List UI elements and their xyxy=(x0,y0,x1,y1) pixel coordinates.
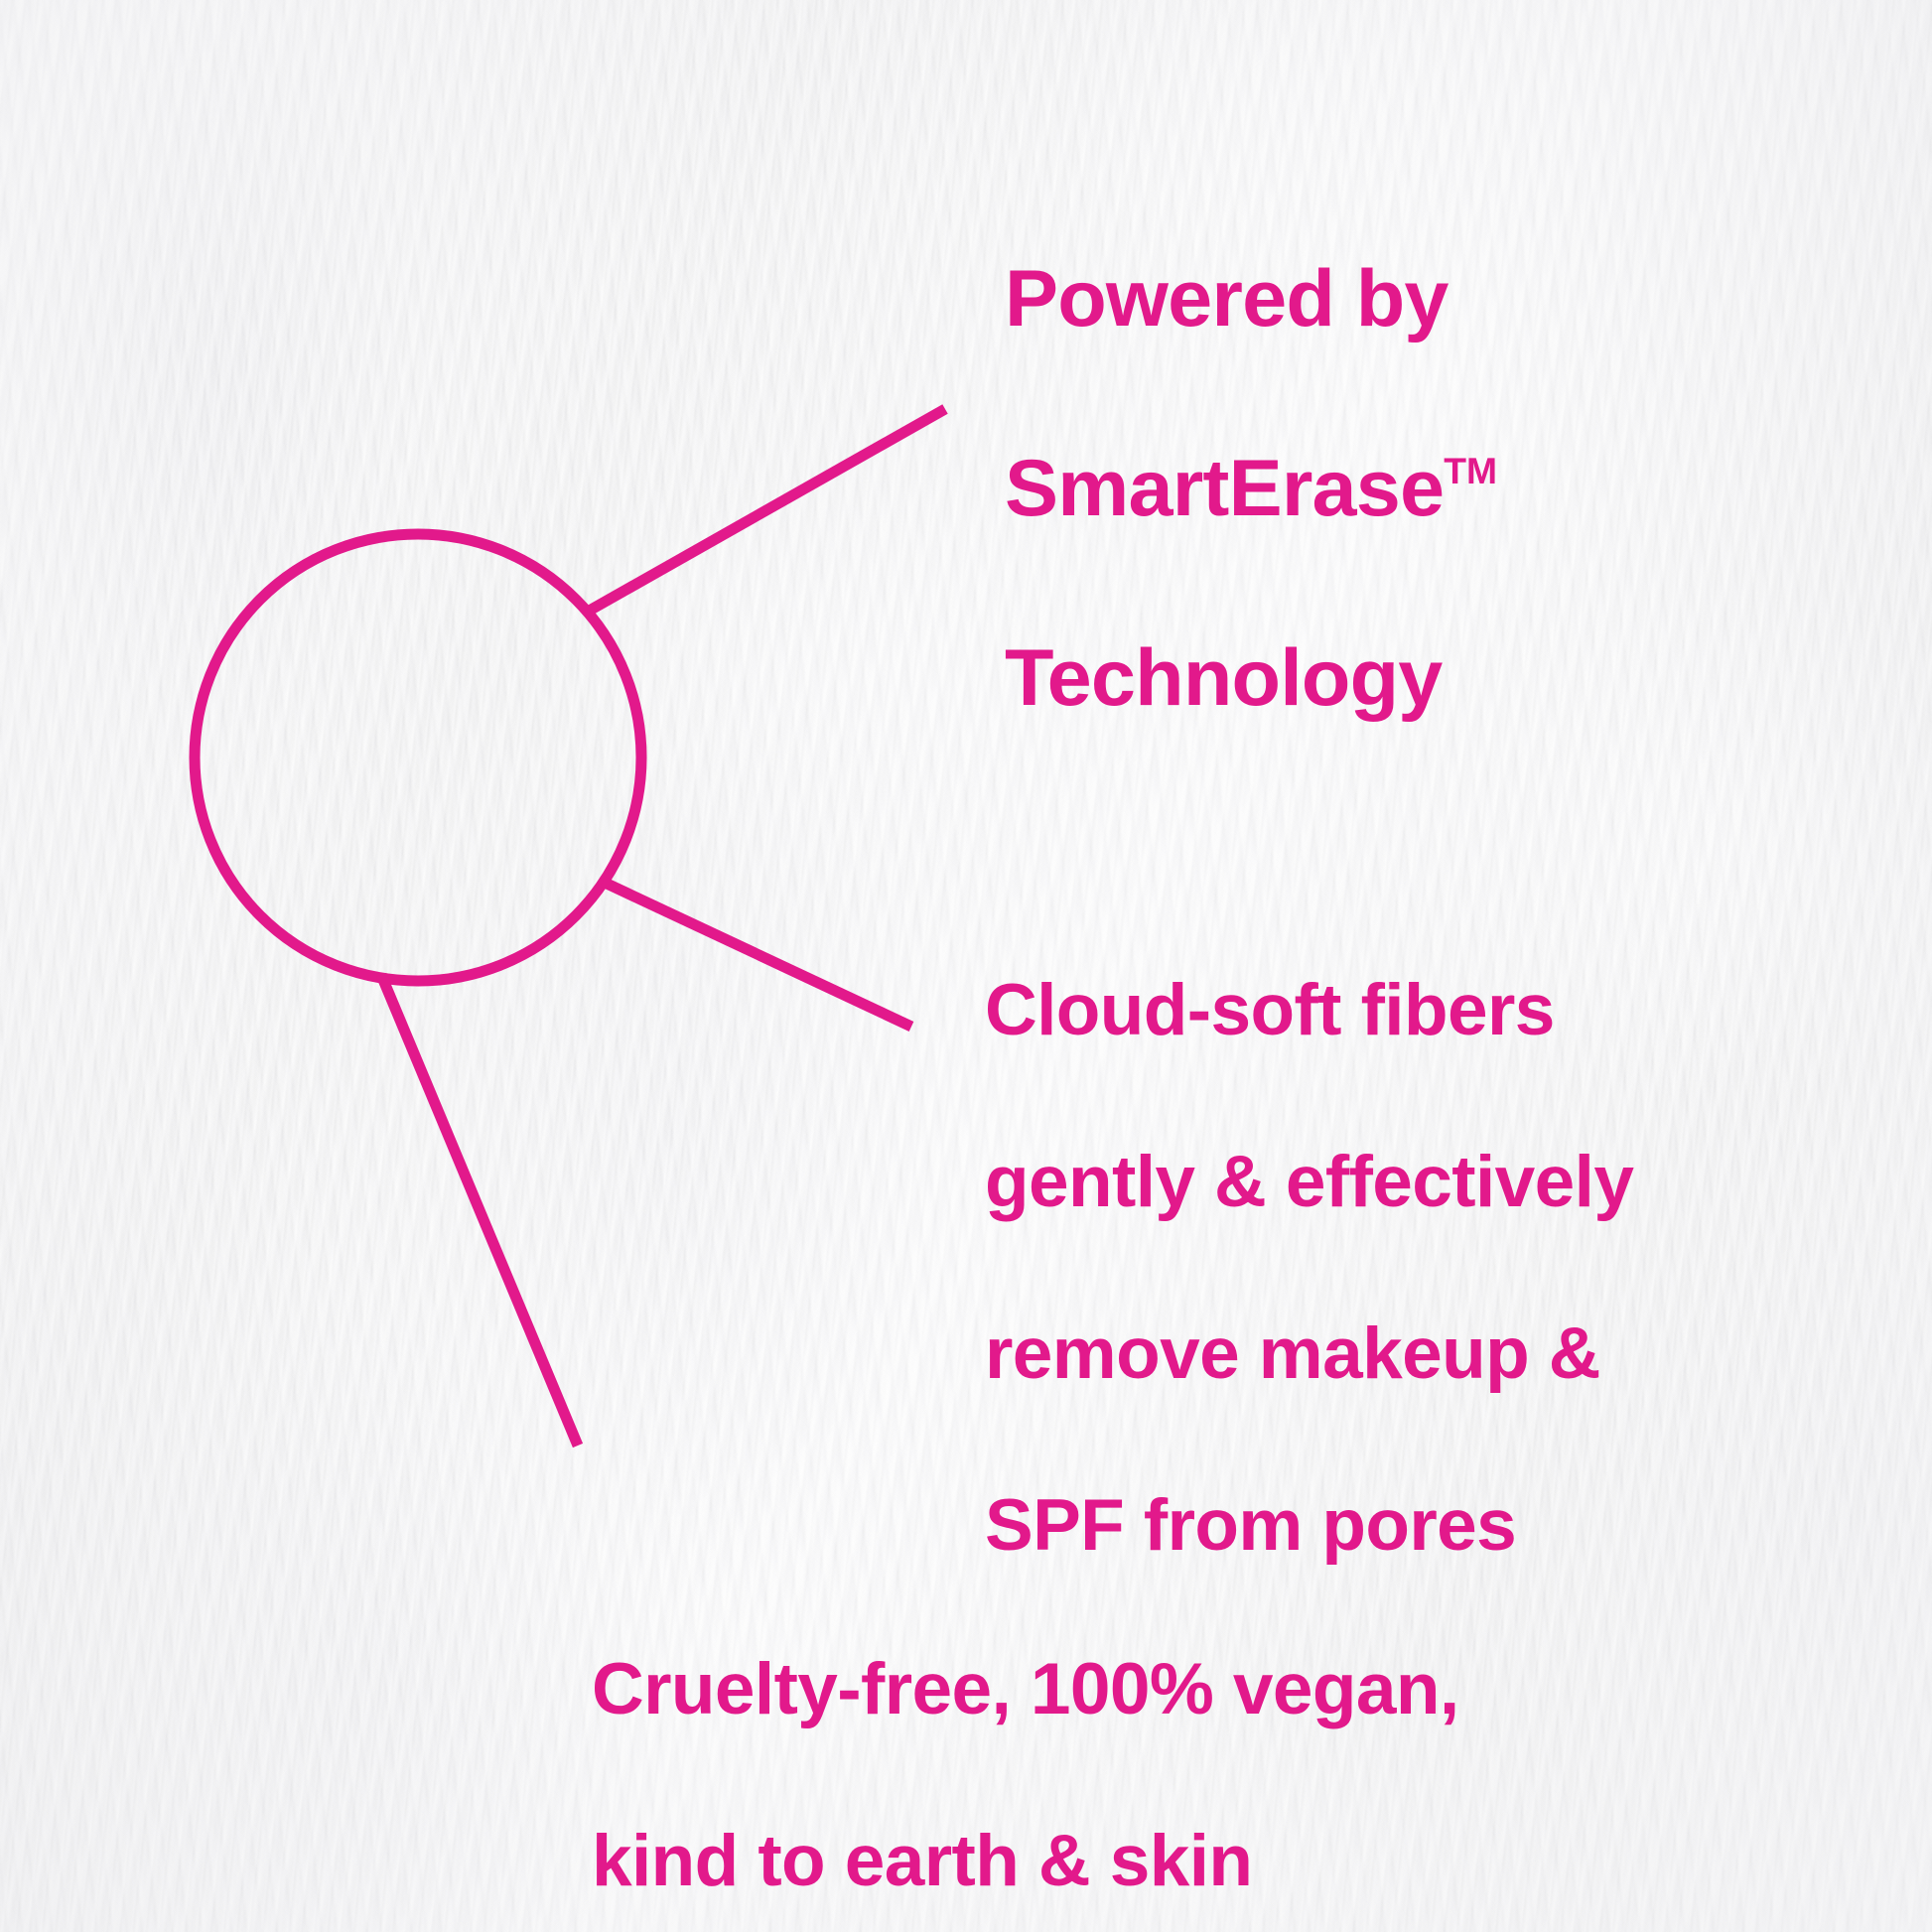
callout-fibers-line-3: remove makeup & xyxy=(985,1311,1633,1398)
callout-technology-line-1: Powered by xyxy=(1005,252,1497,347)
callout-vegan-line-1: Cruelty-free, 100% vegan, xyxy=(592,1647,1459,1733)
callout-technology-line-3: Technology xyxy=(1005,631,1497,727)
brand-name-smarterase: SmartErase xyxy=(1005,444,1444,533)
leader-line-bottom xyxy=(381,975,578,1446)
product-feature-infographic: Powered by SmartEraseTM Technology Cloud… xyxy=(0,0,1932,1932)
trademark-symbol: TM xyxy=(1444,450,1497,491)
callout-fibers-line-2: gently & effectively xyxy=(985,1140,1633,1226)
callout-text-vegan: Cruelty-free, 100% vegan, kind to earth … xyxy=(592,1561,1459,1932)
callout-fibers-line-1: Cloud-soft fibers xyxy=(985,968,1633,1054)
magnifier-circle-icon xyxy=(195,534,641,981)
callout-fibers-line-4: SPF from pores xyxy=(985,1483,1633,1570)
callout-technology-line-2: SmartEraseTM xyxy=(1005,442,1497,537)
leader-line-middle xyxy=(603,882,911,1027)
callout-vegan-line-2: kind to earth & skin xyxy=(592,1819,1459,1905)
callout-text-technology: Powered by SmartEraseTM Technology xyxy=(1005,157,1497,821)
callout-text-fibers: Cloud-soft fibers gently & effectively r… xyxy=(985,882,1633,1655)
leader-line-top xyxy=(586,409,945,613)
